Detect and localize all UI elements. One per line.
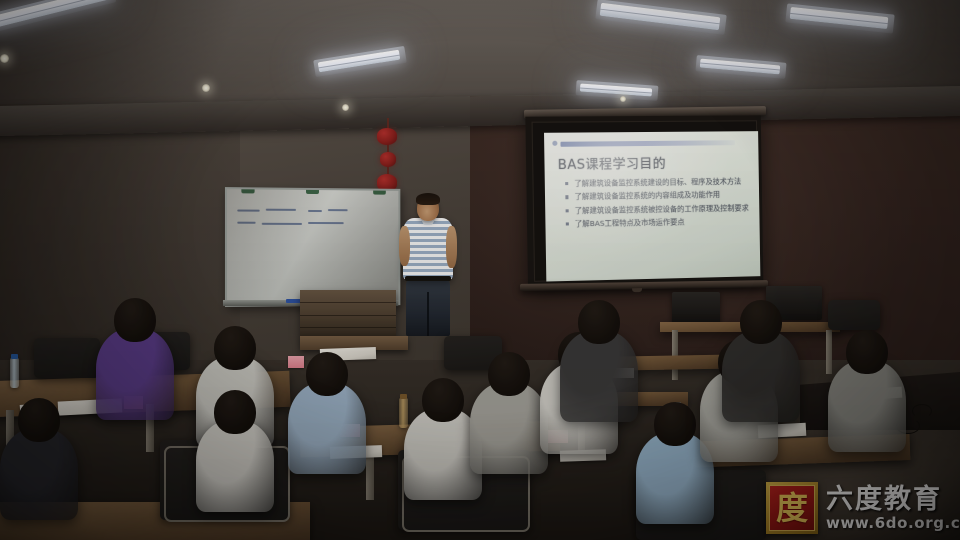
chinese-lantern <box>380 152 396 167</box>
bottle-cap <box>11 354 18 359</box>
cabinet-seam <box>300 302 396 303</box>
student-head <box>422 378 464 422</box>
presentation-slide: BAS课程学习目的 了解建筑设备监控系统建设的目标、程序及技术方法了解建筑设备监… <box>544 131 760 281</box>
brand-url: www.6do.org.cn <box>826 516 960 531</box>
student-head <box>740 300 782 344</box>
desk-name-card <box>288 356 304 368</box>
watermark-text: 六度教育 www.6do.org.cn <box>826 486 960 531</box>
presenter-arm-left <box>399 226 410 266</box>
floor-cable <box>912 404 932 418</box>
chair <box>34 338 100 378</box>
ceiling-downlight <box>342 104 349 111</box>
whiteboard <box>225 187 400 307</box>
front-cabinet <box>300 290 396 336</box>
student-head <box>306 352 348 396</box>
student-head <box>214 390 256 434</box>
whiteboard-shading <box>227 189 398 305</box>
monitor-rear-left <box>672 292 720 324</box>
brand-name: 六度教育 <box>826 486 960 513</box>
student-head <box>846 330 888 374</box>
presenter-arm-right <box>446 226 457 268</box>
chair <box>828 300 880 330</box>
slide-accent-dot <box>552 141 557 146</box>
presenter-trousers <box>406 280 450 336</box>
chinese-lantern <box>377 128 397 145</box>
slide-bullet-list: 了解建筑设备监控系统建设的目标、程序及技术方法了解建筑设备监控系统的内容组成及功… <box>565 177 751 233</box>
student-head <box>214 326 256 370</box>
student-head <box>18 398 60 442</box>
presenter-hair <box>416 193 440 205</box>
classroom-photo: BAS课程学习目的 了解建筑设备监控系统建设的目标、程序及技术方法了解建筑设备监… <box>0 0 960 540</box>
screen-pull-knob <box>632 288 642 292</box>
rear-bench-leg <box>826 330 832 374</box>
brand-logo-field: 度 <box>769 485 815 531</box>
student-head <box>654 402 696 446</box>
student-head <box>488 352 530 396</box>
slide-bullet: 了解BAS工程特点及市场运作要点 <box>566 216 751 229</box>
slide-bullet: 了解建筑设备监控系统建设的目标、程序及技术方法 <box>565 177 750 189</box>
presenter-belt <box>405 276 451 281</box>
slide-bullet: 了解建筑设备监控系统被控设备的工作原理及控制要求 <box>566 203 751 215</box>
cabinet-seam <box>300 315 396 316</box>
ceiling-downlight <box>202 84 210 92</box>
slide-bullet: 了解建筑设备监控系统的内容组成及功能作用 <box>565 190 750 202</box>
bottle-cap <box>400 394 407 399</box>
brand-logo-icon: 度 <box>766 482 818 534</box>
water-bottle <box>399 398 408 428</box>
student-head <box>114 298 156 342</box>
watermark: 度 六度教育 www.6do.org.cn <box>766 482 960 534</box>
cabinet-seam <box>300 327 396 328</box>
slide-accent-bar <box>560 140 734 147</box>
ceiling-downlight <box>0 54 9 63</box>
water-bottle <box>10 358 19 388</box>
slide-title: BAS课程学习目的 <box>558 153 667 173</box>
projector-screen: BAS课程学习目的 了解建筑设备监控系统建设的目标、程序及技术方法了解建筑设备监… <box>525 115 763 287</box>
brand-logo-glyph: 度 <box>776 492 808 524</box>
projector-screen-border: BAS课程学习目的 了解建筑设备监控系统建设的目标、程序及技术方法了解建筑设备监… <box>532 120 760 282</box>
ceiling-downlight <box>620 96 626 102</box>
student-head <box>578 300 620 344</box>
